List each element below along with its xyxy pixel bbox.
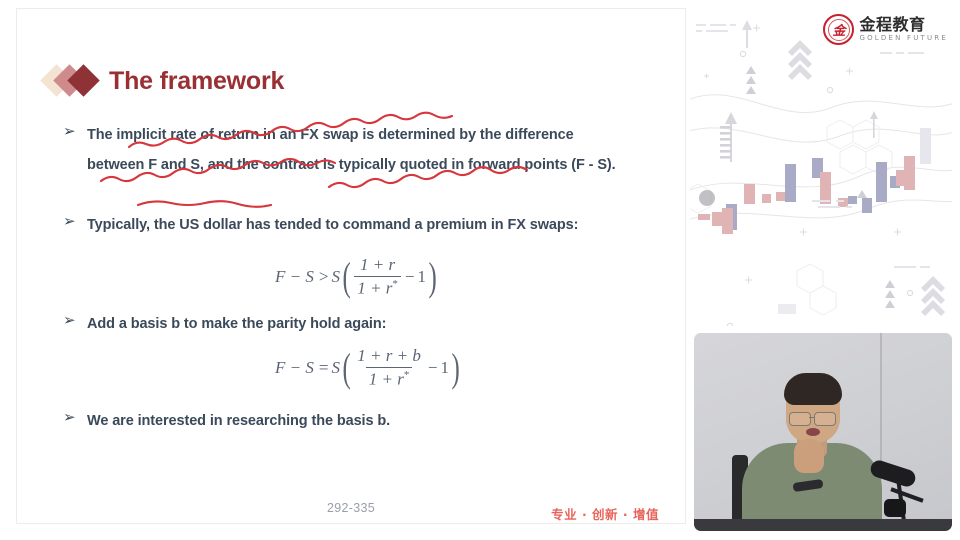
- bullet-item-4: ➢ We are interested in researching the b…: [63, 406, 583, 436]
- bullet-arrow-icon: ➢: [63, 406, 87, 428]
- decor-arrow-small: [870, 111, 878, 138]
- diamond-bullet-icon: [45, 64, 107, 98]
- decor-svg: [690, 8, 952, 326]
- formula-1-relation: >: [319, 267, 329, 287]
- bullet-text-1: The implicit rate of return in an FX swa…: [87, 120, 623, 180]
- formula-1-factor: S: [331, 267, 340, 287]
- formula-1: F − S > S ( 1 + r 1 + r* − 1 ): [275, 255, 439, 299]
- decor-hexagon-1: [827, 120, 853, 149]
- formula-2-open-paren: (: [342, 351, 350, 385]
- formula-2-factor: S: [331, 358, 340, 378]
- formula-1-denominator-sup: *: [392, 278, 398, 290]
- slide-canvas: The framework ➢ The implicit rate of ret…: [16, 8, 686, 524]
- logo-chinese-name: 金程教育: [859, 17, 948, 33]
- presenter-video-feed[interactable]: [694, 333, 952, 531]
- bullet-arrow-icon: ➢: [63, 309, 87, 331]
- formula-2: F − S = S ( 1 + r + b 1 + r* − 1 ): [275, 346, 462, 390]
- presenter-hair: [784, 373, 842, 405]
- bullet-arrow-icon: ➢: [63, 120, 87, 142]
- brand-slogan: 专业 · 创新 · 增值: [551, 504, 659, 523]
- decor-hexagon-5: [797, 264, 823, 293]
- formula-1-trailing-value: 1: [417, 267, 426, 287]
- formula-1-close-paren: ): [429, 260, 437, 294]
- presenter-hand: [794, 439, 824, 473]
- presenter-mouth: [806, 428, 820, 436]
- decor-hexagon-3: [840, 145, 866, 174]
- decor-curve-1: [690, 95, 952, 113]
- logo-english-name: GOLDEN FUTURE: [859, 35, 948, 42]
- formula-1-fraction: 1 + r 1 + r*: [354, 255, 401, 299]
- presentation-stage: The framework ➢ The implicit rate of ret…: [0, 0, 960, 540]
- formula-1-open-paren: (: [342, 260, 350, 294]
- eyeglasses-right-lens: [814, 412, 836, 426]
- formula-2-denominator-base: 1 + r: [369, 370, 404, 389]
- page-title: The framework: [109, 67, 284, 96]
- formula-2-relation: =: [319, 358, 329, 378]
- formula-2-trailing-value: 1: [440, 358, 449, 378]
- bullet-arrow-icon: ➢: [63, 210, 87, 232]
- bullet-text-3: Add a basis b to make the parity hold ag…: [87, 309, 386, 339]
- brand-logo: 金 金程教育 GOLDEN FUTURE: [823, 14, 948, 45]
- formula-2-fraction: 1 + r + b 1 + r*: [354, 346, 424, 390]
- right-panel: 金 金程教育 GOLDEN FUTURE: [690, 8, 952, 532]
- ink-squiggle-4: [138, 201, 271, 207]
- bullet-item-2: ➢ Typically, the US dollar has tended to…: [63, 210, 673, 240]
- formula-1-denominator: 1 + r*: [354, 276, 401, 299]
- decor-hexagon-6: [810, 286, 836, 315]
- formula-1-lead: F − S: [275, 267, 314, 287]
- formula-1-denominator-base: 1 + r: [357, 279, 392, 298]
- formula-1-trailing-op: −: [405, 267, 415, 287]
- formula-2-lead: F − S: [275, 358, 314, 378]
- formula-2-numerator: 1 + r + b: [354, 346, 424, 367]
- desk-edge: [694, 519, 952, 531]
- formula-2-trailing-op: −: [428, 358, 438, 378]
- eyeglasses-left-lens: [789, 412, 811, 426]
- decor-arrow-up: [725, 112, 737, 162]
- bullet-text-2: Typically, the US dollar has tended to c…: [87, 210, 578, 240]
- decor-hexagon-2: [853, 120, 879, 149]
- decor-chevron-top: [788, 40, 812, 80]
- decor-bars: [698, 128, 931, 314]
- logo-text: 金程教育 GOLDEN FUTURE: [859, 17, 948, 42]
- logo-seal-icon: 金: [823, 14, 854, 45]
- decor-arrow-up-2: [742, 20, 752, 48]
- decor-chevron-bottom: [921, 276, 945, 316]
- bullet-item-1: ➢ The implicit rate of return in an FX s…: [63, 120, 623, 180]
- presenter-figure: [694, 333, 952, 531]
- bullet-item-3: ➢ Add a basis b to make the parity hold …: [63, 309, 583, 339]
- formula-2-denominator: 1 + r*: [366, 367, 413, 390]
- eyeglasses-bridge: [809, 417, 814, 418]
- decor-dark-dot: [699, 190, 715, 206]
- decorative-background: [690, 8, 952, 326]
- slide-title-row: The framework: [45, 61, 284, 101]
- formula-2-denominator-sup: *: [404, 369, 410, 381]
- formula-1-numerator: 1 + r: [357, 255, 398, 276]
- logo-seal-glyph: 金: [825, 16, 852, 43]
- microphone-base: [884, 499, 906, 517]
- formula-2-close-paren: ): [451, 351, 459, 385]
- bullet-text-4: We are interested in researching the bas…: [87, 406, 390, 436]
